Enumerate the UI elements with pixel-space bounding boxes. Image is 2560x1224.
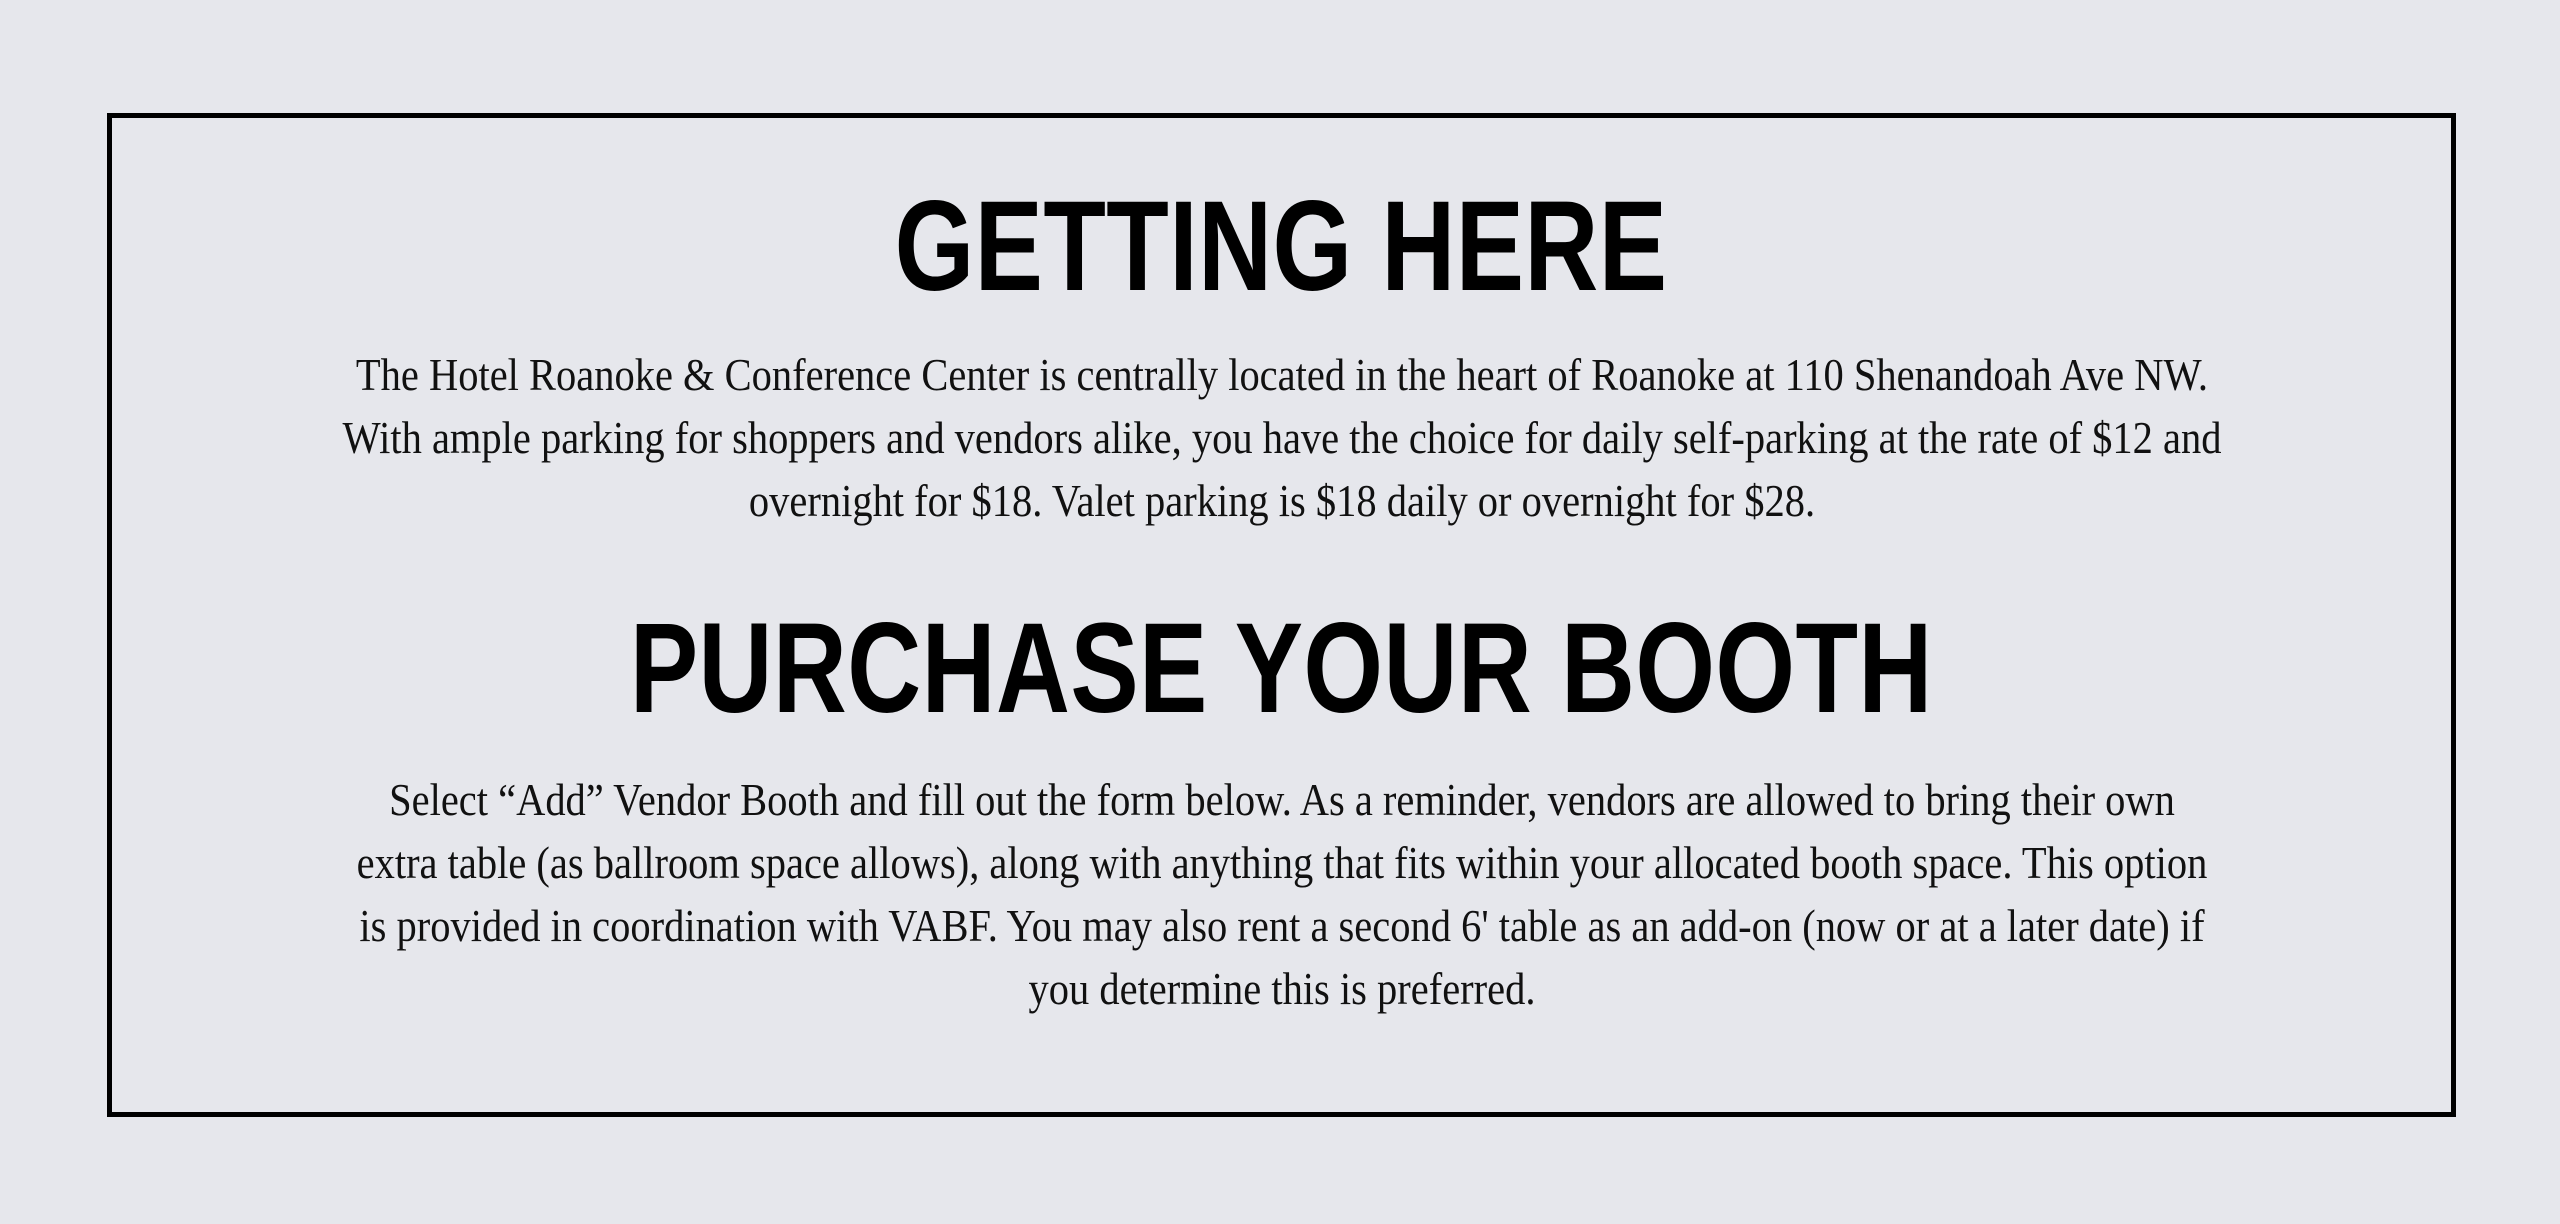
- purchase-booth-heading: PURCHASE YOUR BOOTH: [630, 604, 1933, 735]
- page-root: GETTING HERE The Hotel Roanoke & Confere…: [0, 0, 2560, 1224]
- info-panel: GETTING HERE The Hotel Roanoke & Confere…: [107, 113, 2456, 1117]
- getting-here-heading: GETTING HERE: [895, 182, 1668, 313]
- purchase-booth-body: Select “Add” Vendor Booth and fill out t…: [349, 768, 2215, 1020]
- section-purchase-booth: PURCHASE YOUR BOOTH Select “Add” Vendor …: [112, 604, 2451, 1021]
- section-getting-here: GETTING HERE The Hotel Roanoke & Confere…: [112, 182, 2451, 532]
- getting-here-body: The Hotel Roanoke & Conference Center is…: [331, 343, 2232, 532]
